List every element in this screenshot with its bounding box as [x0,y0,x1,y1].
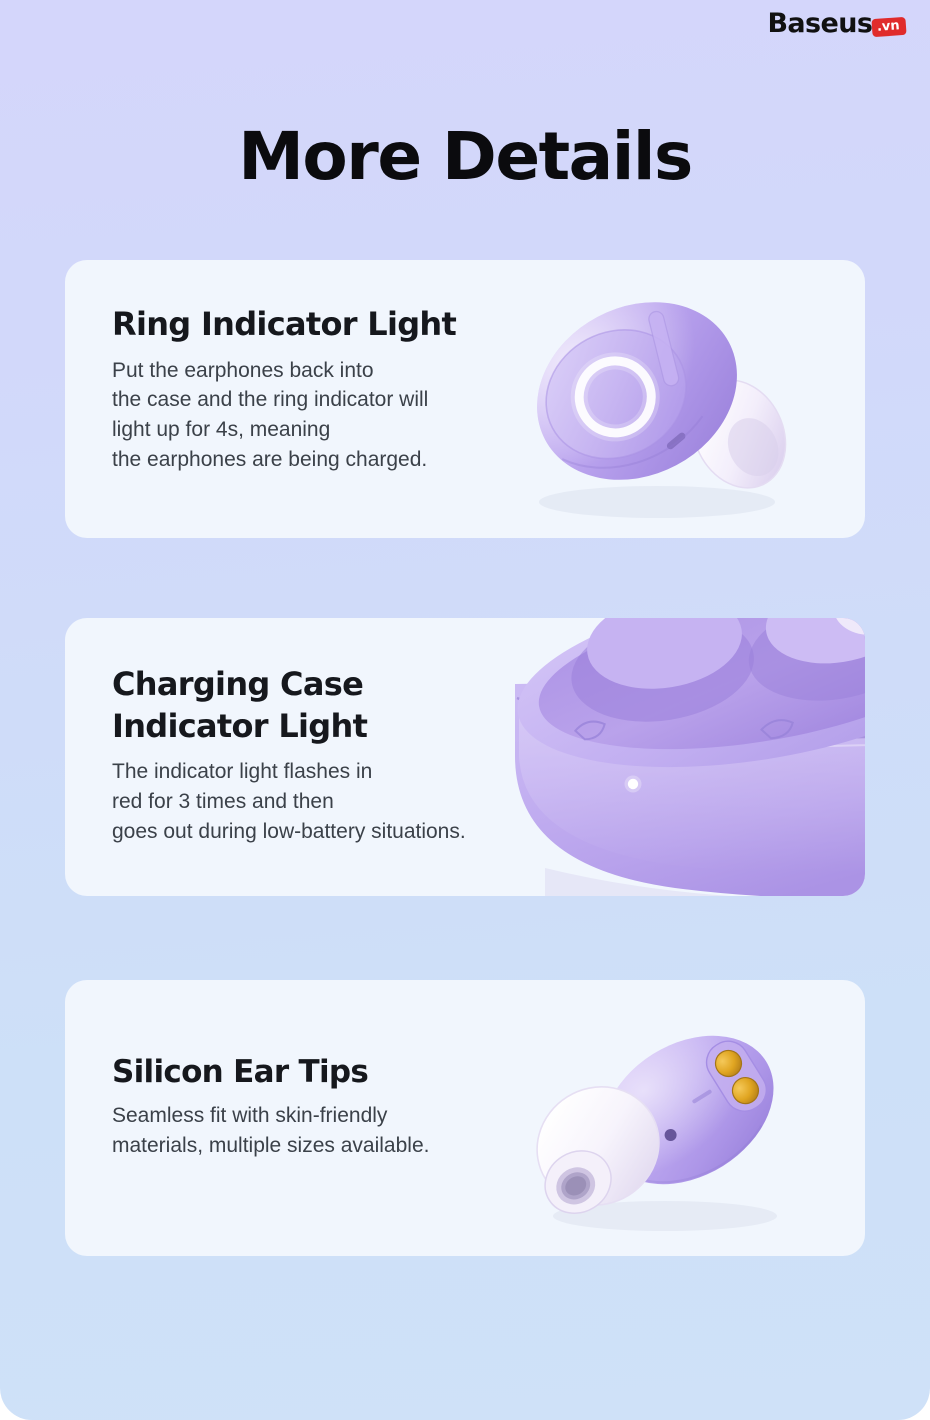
detail-card-charging-case-indicator-light: Charging Case Indicator Light The indica… [65,618,865,896]
detail-card-ring-indicator-light: Ring Indicator Light Put the earphones b… [65,260,865,538]
brand-name: Baseus [767,10,872,37]
brand-tld-badge: .vn [872,16,907,36]
card-body: Seamless fit with skin-friendly material… [112,1101,429,1161]
card-title: Charging Case Indicator Light [112,664,466,747]
card-text-block: Charging Case Indicator Light The indica… [112,664,466,847]
card-text-block: Silicon Ear Tips Seamless fit with skin-… [112,1052,429,1161]
charging-contact-bottom [728,1073,764,1109]
charging-contact-top [711,1046,747,1082]
card-text-block: Ring Indicator Light Put the earphones b… [112,304,456,475]
card-body: Put the earphones back into the case and… [112,356,456,475]
earbud-with-silicone-tip-image [510,998,810,1238]
earbud-with-ring-indicator-image [487,266,817,532]
product-details-page: Baseus .vn More Details [0,0,930,1420]
card-title: Ring Indicator Light [112,304,456,346]
detail-card-silicon-ear-tips: Silicon Ear Tips Seamless fit with skin-… [65,980,865,1256]
card-body: The indicator light flashes in red for 3… [112,757,466,846]
charging-case-with-led-image [485,618,865,896]
card-title: Silicon Ear Tips [112,1052,429,1092]
case-led-indicator [628,779,638,789]
brand-logo: Baseus .vn [767,10,906,37]
page-title: More Details [0,122,930,191]
